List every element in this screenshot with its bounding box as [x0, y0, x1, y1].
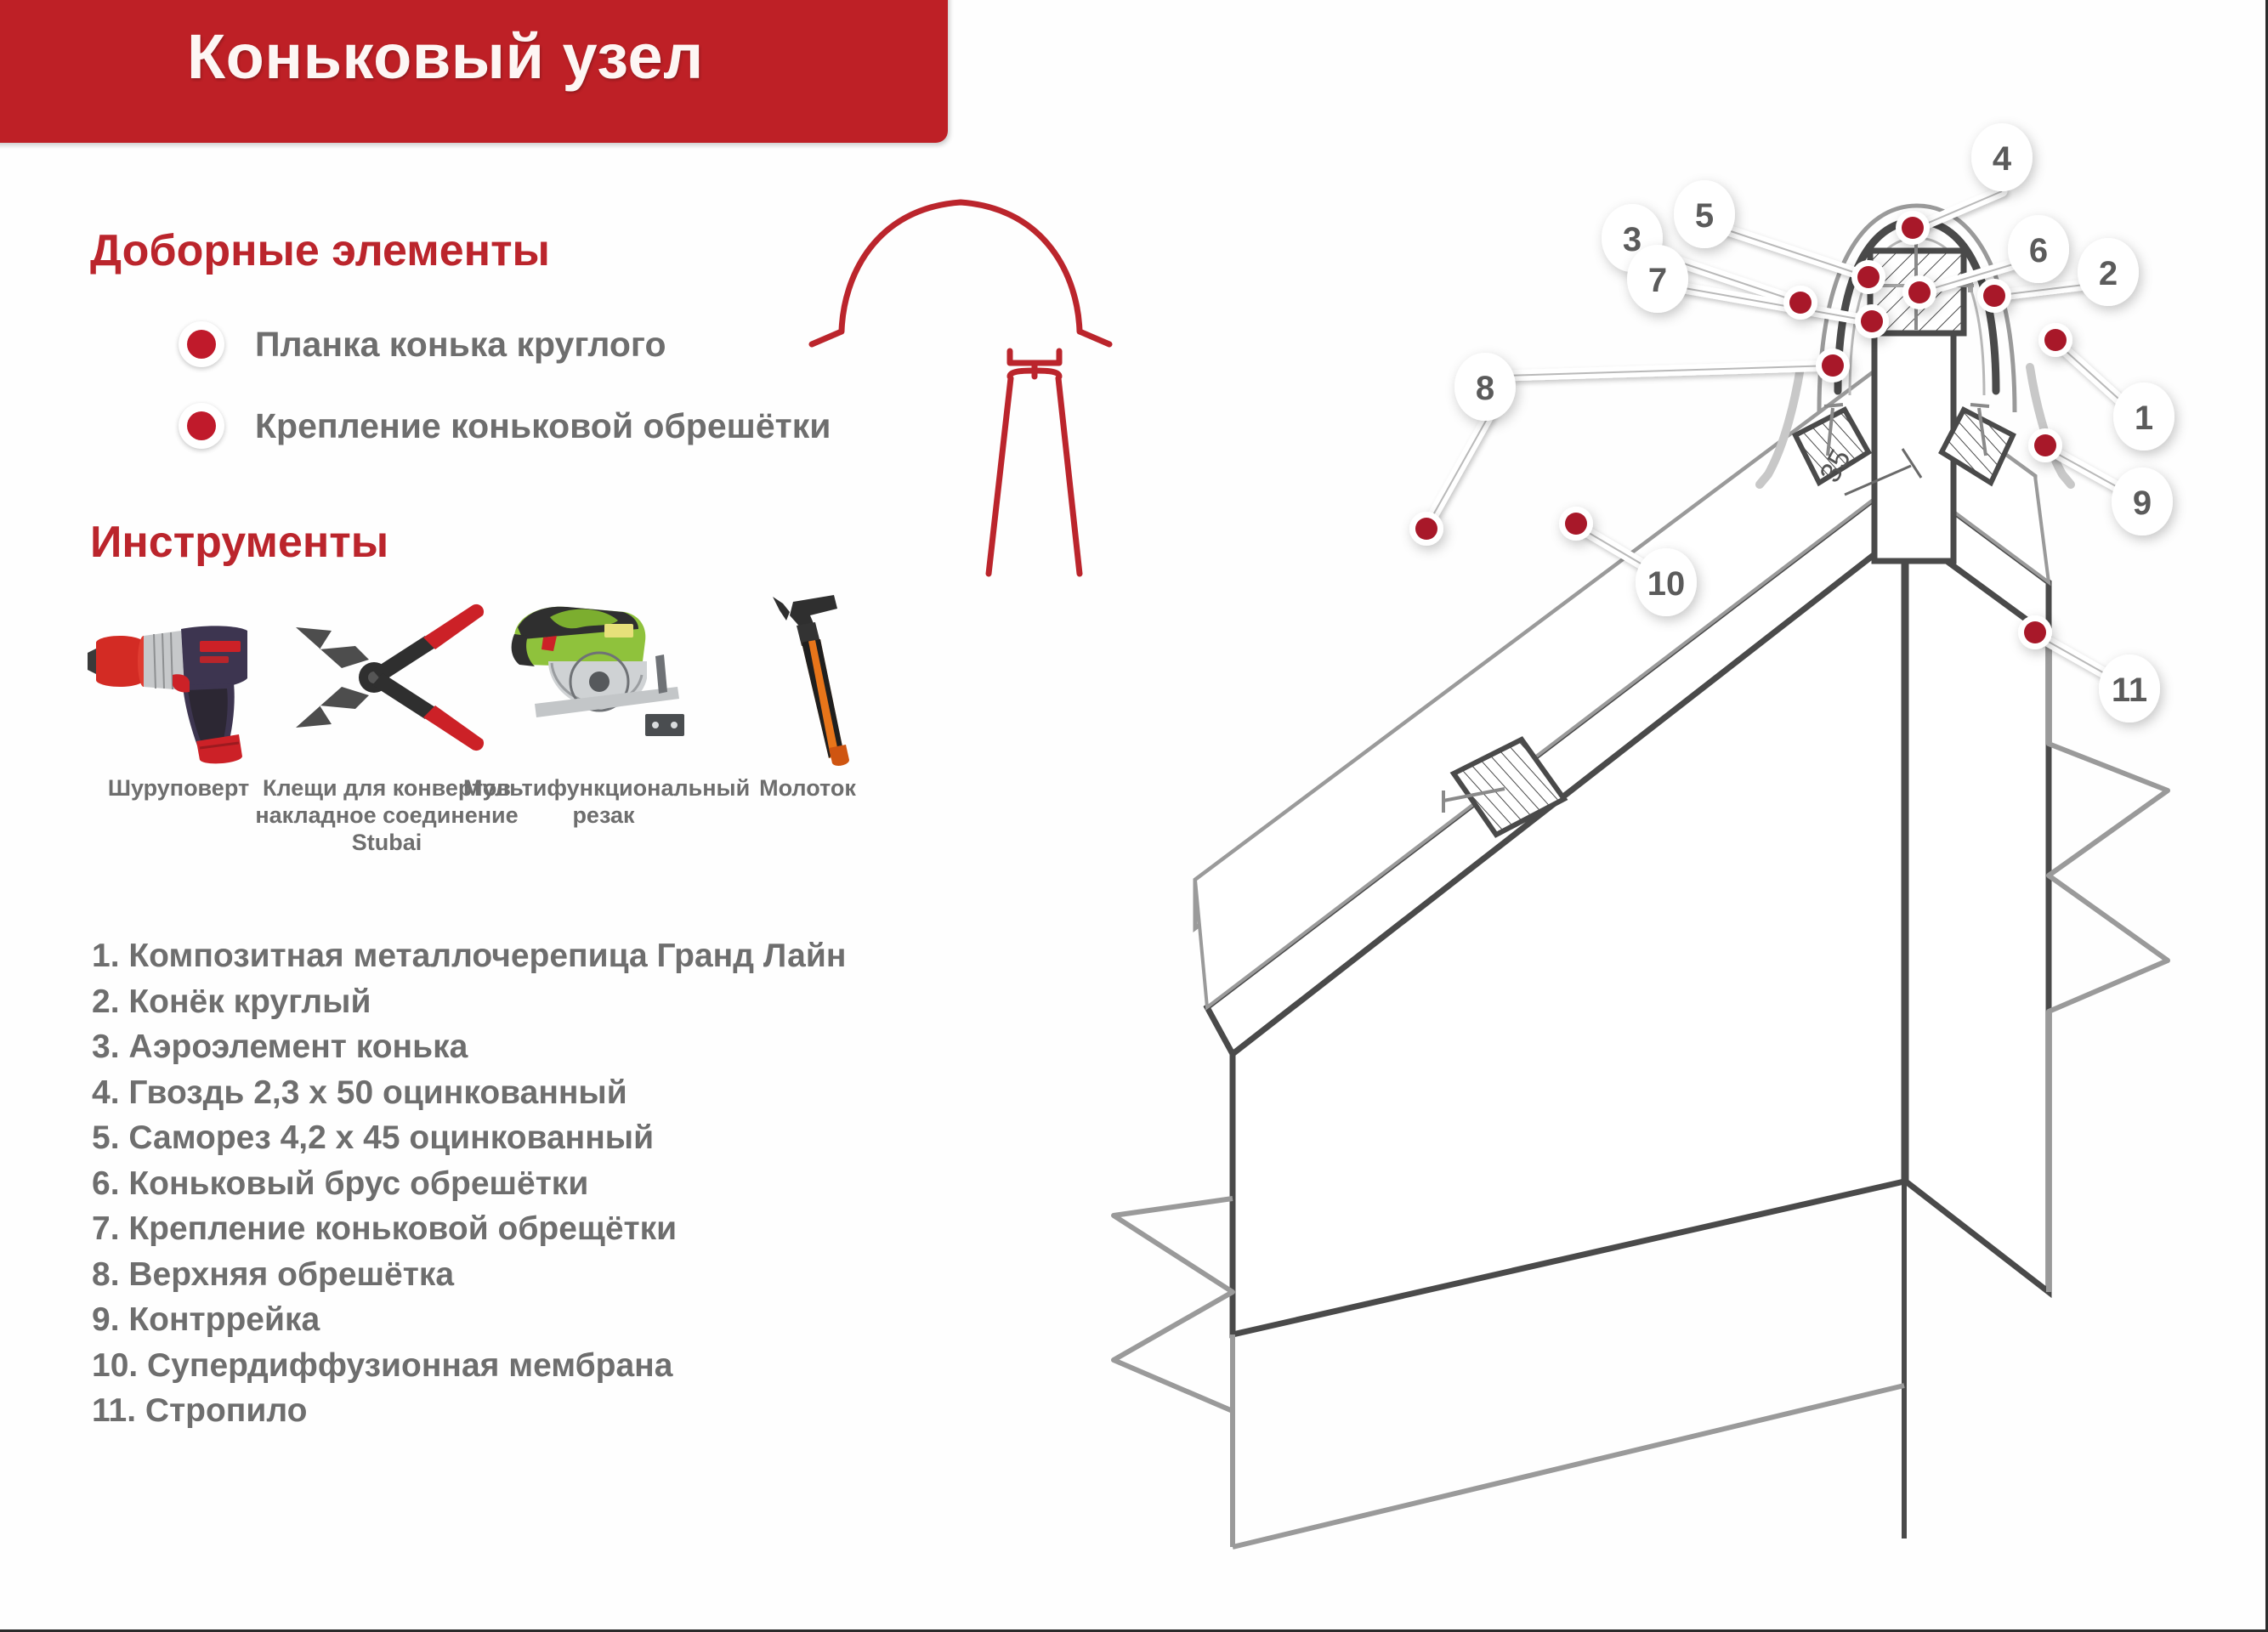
legend-item: 11. Стропило: [92, 1388, 1069, 1434]
legend-item: 10. Супердиффузионная мембрана: [92, 1343, 1069, 1389]
section-heading-tools: Инструменты: [90, 517, 388, 568]
callout-number: 5: [1695, 197, 1714, 235]
list-item: Планка конька круглого: [179, 321, 666, 367]
legend-item: 5. Саморез 4,2 х 45 оцинкованный: [92, 1115, 1069, 1161]
circular-saw-icon: [497, 586, 710, 769]
callout-bubble[interactable]: 9: [2112, 467, 2173, 535]
section-heading-extras: Доборные элементы: [90, 225, 550, 276]
callout-number: 11: [2112, 671, 2147, 709]
roof-isometric-body: [1114, 365, 2168, 1547]
legend-item: 9. Контррейка: [92, 1297, 1069, 1343]
hammer-icon: [701, 586, 914, 769]
header-bar: Коньковый узел: [0, 0, 948, 143]
callout-number: 8: [1476, 370, 1494, 407]
seaming-pliers-icon: [281, 586, 493, 769]
cordless-drill-icon: [72, 586, 285, 769]
callout-number: 7: [1648, 262, 1667, 299]
tool-label: Молоток: [710, 775, 905, 802]
tool-item: Шуруповерт: [72, 586, 285, 909]
callout-number: 4: [1993, 140, 2012, 178]
red-dot-bullet-icon: [179, 403, 224, 449]
callout-number: 6: [2029, 232, 2048, 269]
tool-item: Молоток: [701, 586, 914, 909]
legend-item: 3. Аэроэлемент конька: [92, 1024, 1069, 1070]
callout-number: 10: [1647, 565, 1686, 603]
red-dot-bullet-icon: [179, 321, 224, 367]
extras-item-label: Крепление коньковой обрешётки: [255, 406, 831, 446]
callout-bubble[interactable]: 8: [1454, 353, 1516, 421]
callout-bubble[interactable]: 1: [2113, 382, 2174, 450]
ridge-assembly-diagram: 35: [978, 110, 2268, 1632]
callout-bubble[interactable]: 7: [1627, 245, 1688, 313]
callout-number: 1: [2135, 399, 2153, 437]
legend-item: 4. Гвоздь 2,3 х 50 оцинкованный: [92, 1070, 1069, 1116]
callout-bubble[interactable]: 10: [1636, 548, 1697, 616]
legend-item: 6. Коньковый брус обрешётки: [92, 1161, 1069, 1207]
legend-item: 2. Конёк круглый: [92, 979, 1069, 1025]
callout-bubble[interactable]: 11: [2099, 654, 2160, 722]
extras-item-label: Планка конька круглого: [255, 325, 666, 365]
poster-canvas: Коньковый узел Доборные элементы Планка …: [0, 0, 2268, 1632]
list-item: Крепление коньковой обрешётки: [179, 403, 831, 449]
page-title: Коньковый узел: [187, 20, 704, 93]
tool-item: Клещи для конвертовнакладное соединениеS…: [281, 586, 493, 909]
legend-item: 7. Крепление коньковой обрещётки: [92, 1206, 1069, 1252]
legend-item: 8. Верхняя обрешётка: [92, 1252, 1069, 1298]
callout-bubble[interactable]: 2: [2078, 238, 2139, 306]
tool-item: Мультифункциональныйрезак: [497, 586, 710, 909]
callout-number: 2: [2099, 255, 2118, 292]
callout-bubble[interactable]: 6: [2008, 215, 2069, 283]
legend-item: 1. Композитная металлочерепица Гранд Лай…: [92, 933, 1069, 979]
numbered-legend: 1. Композитная металлочерепица Гранд Лай…: [92, 933, 1069, 1434]
callout-bubble[interactable]: 4: [1971, 123, 2033, 191]
callout-number: 9: [2133, 484, 2152, 522]
callout-bubble[interactable]: 5: [1674, 180, 1735, 248]
